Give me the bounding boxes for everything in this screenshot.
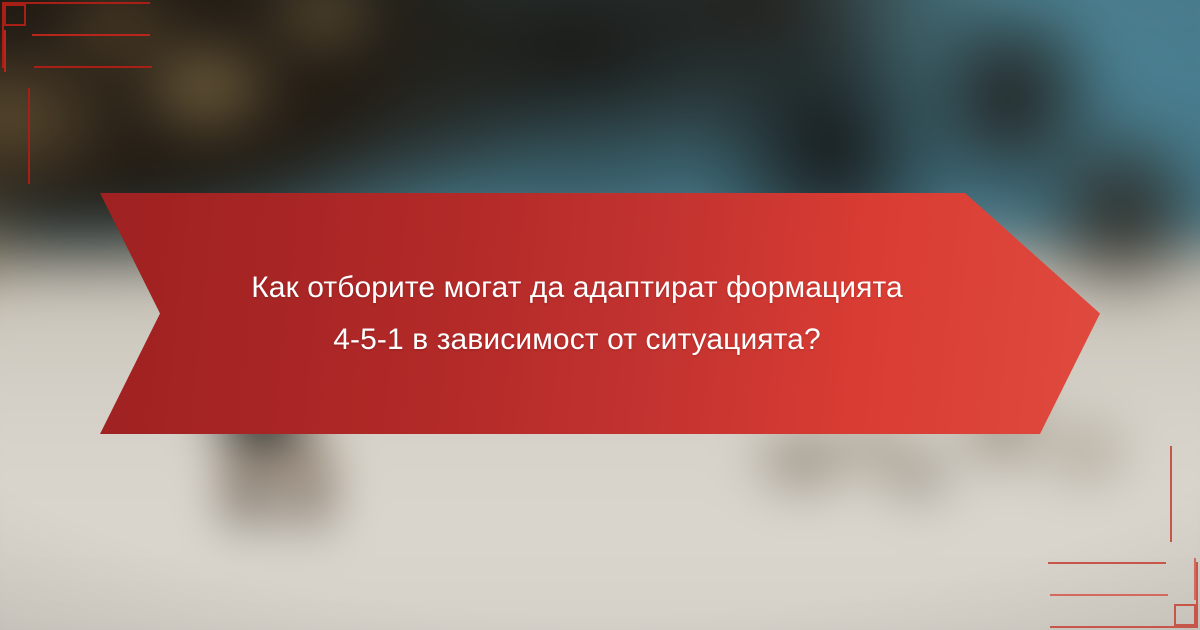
headline-text: Как отборите могат да адаптират формация… <box>197 262 957 366</box>
corner-rule-vertical-short-bottom-right <box>1194 558 1196 600</box>
headline-line-2: 4-5-1 в зависимост от ситуацията? <box>197 314 957 366</box>
corner-rule-vertical-short-top-left <box>4 30 6 72</box>
corner-rule-vertical-bottom-right <box>1170 446 1172 542</box>
corner-rule-inner-bottom-right <box>1050 594 1168 596</box>
banner-card: Как отборите могат да адаптират формация… <box>0 0 1200 630</box>
headline-line-1: Как отборите могат да адаптират формация… <box>197 262 957 314</box>
corner-rule-inner-top-left <box>32 34 150 36</box>
headline-ribbon: Как отборите могат да адаптират формация… <box>100 193 1100 434</box>
corner-frame-bottom-right <box>1030 460 1200 630</box>
corner-rule-vertical-top-left <box>28 88 30 184</box>
corner-frame-top-left <box>0 0 170 170</box>
